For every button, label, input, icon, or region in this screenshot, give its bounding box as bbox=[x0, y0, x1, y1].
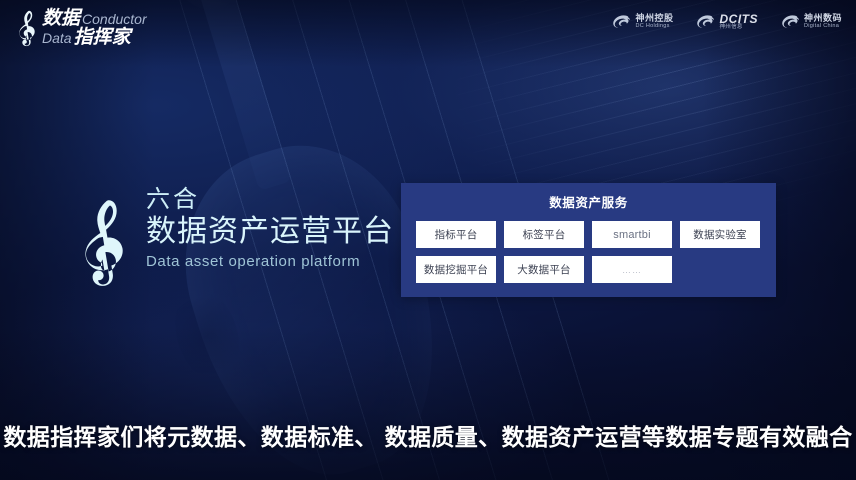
partner-text: 神州控股 DC Holdings bbox=[635, 14, 673, 29]
partner-logo-digital-china: 神州数码 Digital China bbox=[780, 12, 842, 32]
header-bar: 数据 Conductor Data 指挥家 神州控股 DC Holdings bbox=[0, 0, 856, 56]
product-logo: 数据 Conductor Data 指挥家 bbox=[14, 9, 147, 48]
service-tile-shuju-wajue-pingtai[interactable]: 数据挖掘平台 bbox=[416, 256, 496, 283]
partner-logo-group: 神州控股 DC Holdings DCITS 神州信息 神州数码 bbox=[611, 12, 842, 32]
partner-name-en: 神州信息 bbox=[719, 25, 758, 31]
logo-en-primary: Conductor bbox=[82, 12, 147, 26]
service-tile-shuju-shiyanshi[interactable]: 数据实验室 bbox=[680, 221, 760, 248]
product-logo-wordmark: 数据 Conductor Data 指挥家 bbox=[42, 9, 147, 48]
slide-canvas: 数据 Conductor Data 指挥家 神州控股 DC Holdings bbox=[0, 0, 856, 480]
platform-name: 数据资产运营平台 bbox=[146, 213, 394, 250]
partner-logo-dcits: DCITS 神州信息 bbox=[695, 12, 758, 32]
logo-en-secondary: Data bbox=[42, 31, 72, 45]
panel-title: 数据资产服务 bbox=[401, 183, 776, 211]
service-tile-zhibiao-pingtai[interactable]: 指标平台 bbox=[416, 221, 496, 248]
swoosh-icon bbox=[780, 12, 800, 32]
partner-text: 神州数码 Digital China bbox=[804, 14, 842, 29]
service-tile-dashuju-pingtai[interactable]: 大数据平台 bbox=[504, 256, 584, 283]
logo-line-2: Data 指挥家 bbox=[42, 28, 147, 47]
service-tile-smartbi[interactable]: smartbi bbox=[592, 221, 672, 248]
data-asset-service-panel: 数据资产服务 指标平台 标签平台 smartbi 数据实验室 数据挖掘平台 大数… bbox=[401, 183, 776, 297]
platform-brand-text: 六合 数据资产运营平台 Data asset operation platfor… bbox=[146, 186, 394, 270]
logo-cn-secondary: 指挥家 bbox=[74, 28, 131, 47]
logo-cn-primary: 数据 bbox=[42, 9, 80, 28]
platform-name-en: Data asset operation platform bbox=[146, 253, 394, 270]
service-tile-biaoqian-pingtai[interactable]: 标签平台 bbox=[504, 221, 584, 248]
swoosh-icon bbox=[611, 12, 631, 32]
swoosh-icon bbox=[695, 12, 715, 32]
logo-line-1: 数据 Conductor bbox=[42, 9, 147, 28]
treble-clef-icon bbox=[14, 9, 40, 47]
service-tile-more[interactable]: …… bbox=[592, 256, 672, 283]
platform-name-prefix: 六合 bbox=[146, 186, 394, 214]
slide-caption: 数据指挥家们将元数据、数据标准、 数据质量、数据资产运营等数据专题有效融合 bbox=[0, 418, 856, 452]
service-tile-grid: 指标平台 标签平台 smartbi 数据实验室 数据挖掘平台 大数据平台 …… bbox=[401, 211, 776, 283]
treble-clef-icon bbox=[74, 188, 134, 296]
platform-brand-block: 六合 数据资产运营平台 Data asset operation platfor… bbox=[74, 186, 394, 296]
partner-name-en: Digital China bbox=[804, 24, 842, 30]
partner-logo-dc-holdings: 神州控股 DC Holdings bbox=[611, 12, 673, 32]
partner-text: DCITS 神州信息 bbox=[719, 13, 758, 31]
partner-name-en: DC Holdings bbox=[635, 24, 673, 30]
